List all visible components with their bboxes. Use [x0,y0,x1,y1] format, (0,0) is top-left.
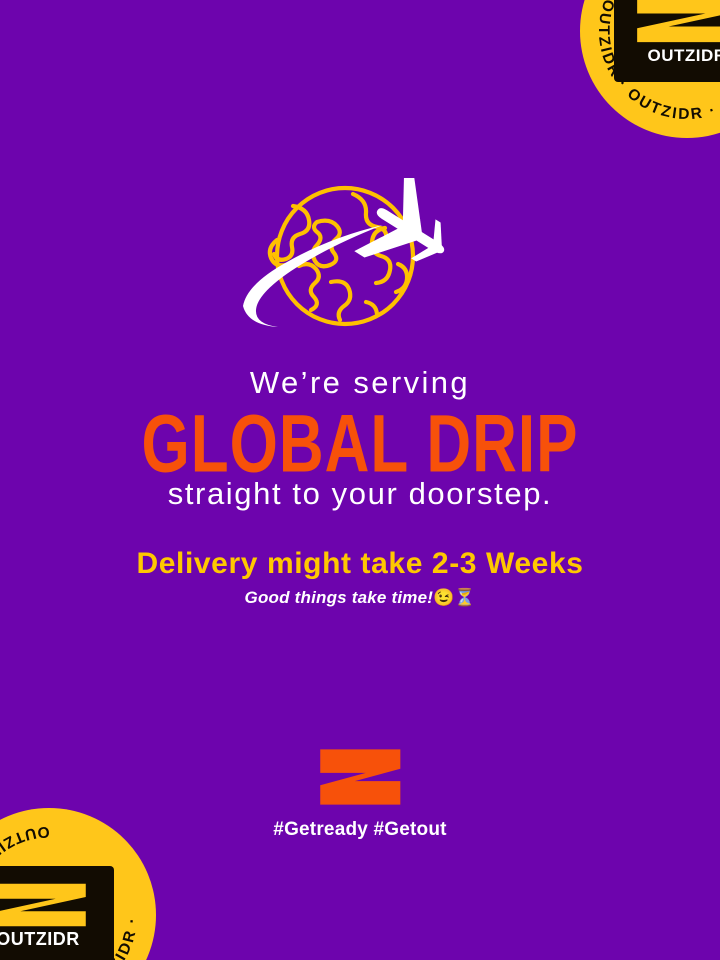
badge-core-wordmark: OUTZIDR [0,929,80,950]
badge-core-top-right: OUTZIDR [614,0,720,82]
outzidr-z-mark-icon [318,748,402,806]
badge-z-mark-icon [0,882,97,928]
delivery-tagline: Good things take time!😉⏳ [0,589,720,606]
headline-line-2: GLOBAL DRIP [0,404,720,486]
brand-badge-bottom-left: OUTZIDR · OUTZIDR · OUTZIDR · OUTZIDR · … [0,808,156,960]
orbit-swoosh [243,225,383,327]
brand-badge-top-right: OUTZIDR · OUTZIDR · OUTZIDR · OUTZIDR · … [580,0,720,138]
headline-line-3: straight to your doorstep. [0,478,720,509]
badge-z-mark-icon [631,0,720,44]
poster-canvas: OUTZIDR · OUTZIDR · OUTZIDR · OUTZIDR · … [0,0,720,960]
footer-hashtags: #Getready #Getout [273,819,446,841]
headline-line-1: We’re serving [0,367,720,398]
tagline-text: Good things take time! [245,588,434,607]
delivery-notice: Delivery might take 2-3 Weeks [0,549,720,579]
globe-with-airplane-icon [235,178,485,343]
footer-logo-group: #Getready #Getout [273,748,446,841]
tagline-emoji: 😉⏳ [433,588,475,607]
badge-core-wordmark: OUTZIDR [647,46,720,66]
badge-core-bottom-left: OUTZIDR [0,866,114,960]
